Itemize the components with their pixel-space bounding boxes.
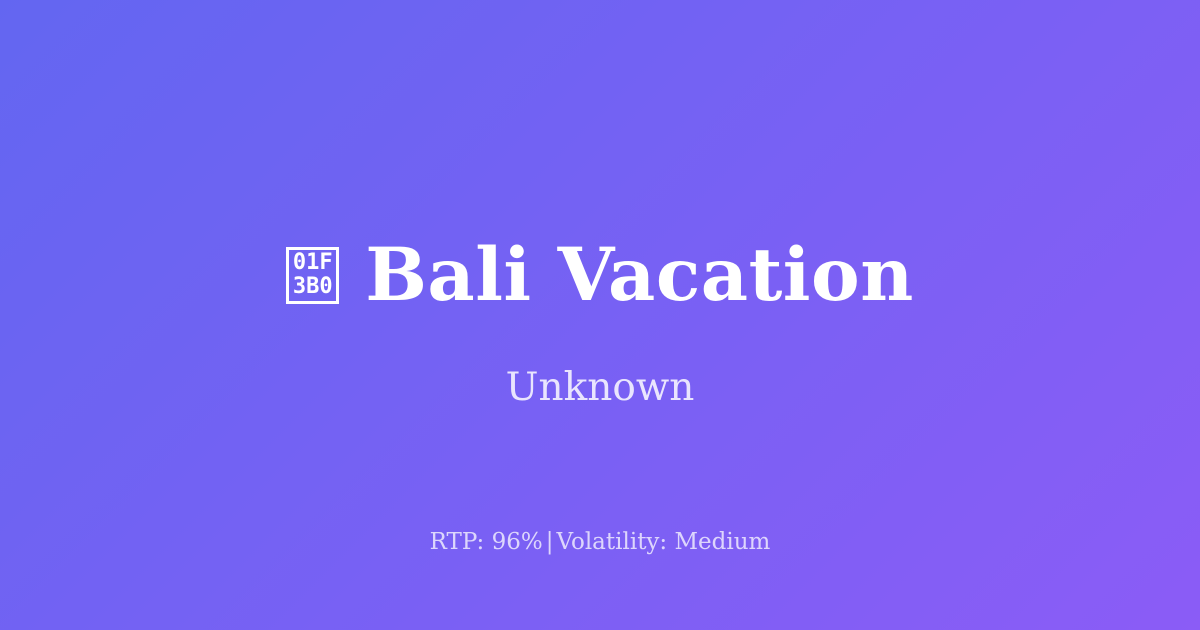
stats-separator: | <box>543 529 557 555</box>
og-preview-card: 01F 3B0 Bali Vacation Unknown RTP: 96%|V… <box>0 0 1200 630</box>
rtp-stat: RTP: 96% <box>430 529 543 555</box>
title-row: 01F 3B0 Bali Vacation <box>0 232 1200 318</box>
game-stats: RTP: 96%|Volatility: Medium <box>0 528 1200 558</box>
tofu-codepoint-top: 01F <box>293 251 333 275</box>
volatility-stat: Volatility: Medium <box>556 529 770 555</box>
tofu-codepoint-bottom: 3B0 <box>293 275 333 299</box>
provider-name: Unknown <box>0 365 1200 412</box>
game-title: Bali Vacation <box>365 237 914 314</box>
slot-machine-emoji-icon: 01F 3B0 <box>286 247 339 304</box>
